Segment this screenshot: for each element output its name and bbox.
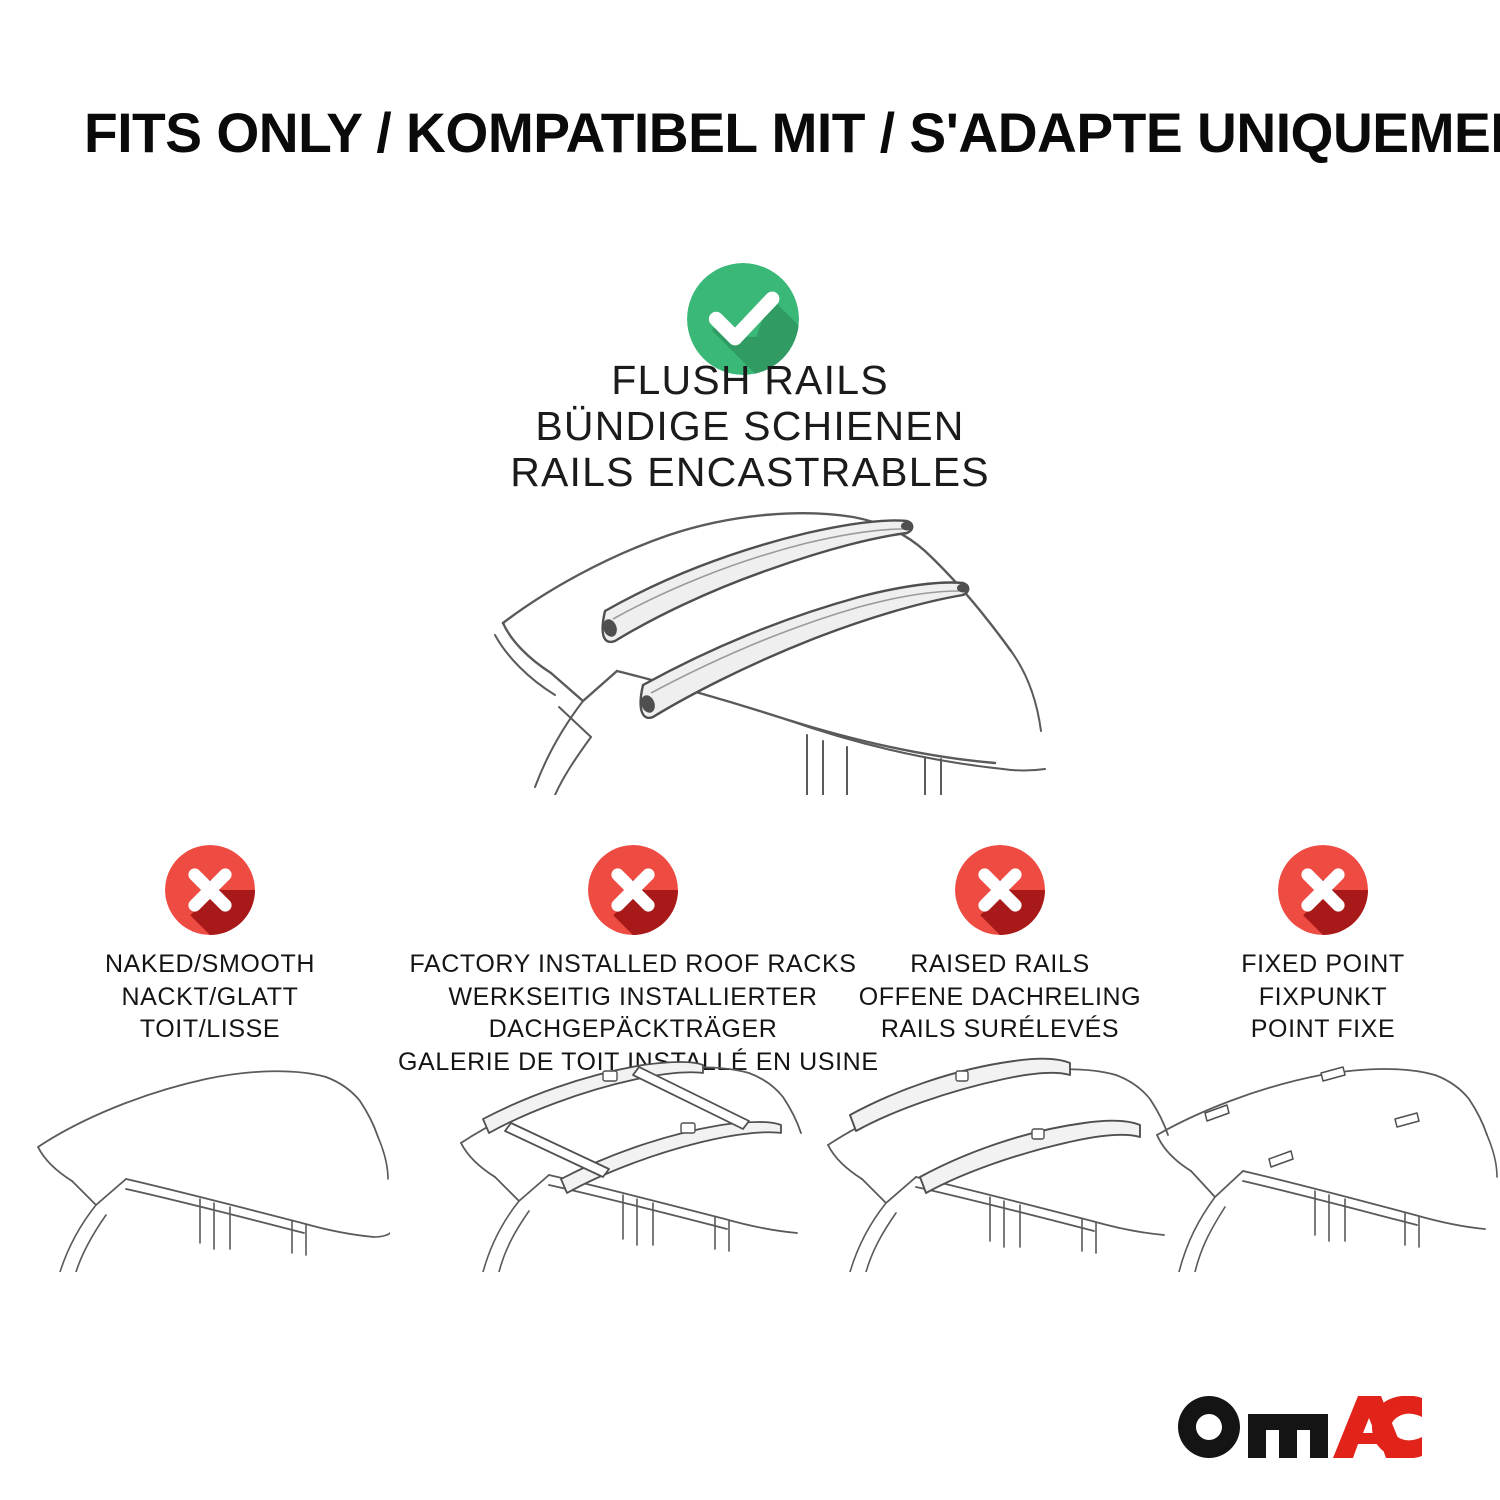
caption-line: TOIT/LISSE <box>30 1013 390 1046</box>
caption-line: POINT FIXE <box>1168 1013 1478 1046</box>
caption-line: NACKT/GLATT <box>30 981 390 1014</box>
x-circle-icon <box>165 845 255 935</box>
caption-line: WERKSEITIG INSTALLIERTER <box>398 981 868 1014</box>
x-circle-icon <box>588 845 678 935</box>
caption-line: FIXPUNKT <box>1168 981 1478 1014</box>
logo-letter-m <box>1248 1414 1328 1458</box>
car-roof-naked-smooth-illustration <box>30 1057 390 1272</box>
caption-line: RAISED RAILS <box>830 948 1170 981</box>
x-circle-icon <box>1278 845 1368 935</box>
caption-line: OFFENE DACHRELING <box>830 981 1170 1014</box>
x-mark-glyph <box>1278 845 1368 935</box>
x-mark-glyph <box>955 845 1045 935</box>
approved-heading-line: BÜNDIGE SCHIENEN <box>250 404 1250 450</box>
caption-line: NAKED/SMOOTH <box>30 948 390 981</box>
car-roof-raised-rails-illustration <box>820 1057 1180 1272</box>
logo-letter-o <box>1178 1396 1240 1458</box>
caption-line: DACHGEPÄCKTRÄGER <box>398 1013 868 1046</box>
car-roof-fixed-point-illustration <box>1143 1057 1500 1272</box>
caption-line: FIXED POINT <box>1168 948 1478 981</box>
column-caption: FIXED POINT FIXPUNKT POINT FIXE <box>1168 948 1478 1046</box>
approved-heading-line: RAILS ENCASTRABLES <box>250 450 1250 496</box>
omac-logo-mark <box>1178 1396 1422 1458</box>
x-mark-glyph <box>588 845 678 935</box>
car-roof-flush-rails-illustration <box>455 495 1055 795</box>
x-circle-icon <box>955 845 1045 935</box>
caption-line: FACTORY INSTALLED ROOF RACKS <box>398 948 868 981</box>
compatibility-infographic: FITS ONLY / KOMPATIBEL MIT / S'ADAPTE UN… <box>0 0 1500 1500</box>
approved-heading-line: FLUSH RAILS <box>250 358 1250 404</box>
car-roof-factory-rack-illustration <box>453 1057 813 1272</box>
caption-line: RAILS SURÉLEVÉS <box>830 1013 1170 1046</box>
approved-heading: FLUSH RAILS BÜNDIGE SCHIENEN RAILS ENCAS… <box>250 358 1250 496</box>
column-caption: RAISED RAILS OFFENE DACHRELING RAILS SUR… <box>830 948 1170 1046</box>
omac-logo: OM AC <box>1178 1396 1422 1458</box>
flush-rail-upper <box>601 521 913 642</box>
x-mark-glyph <box>165 845 255 935</box>
column-caption: NAKED/SMOOTH NACKT/GLATT TOIT/LISSE <box>30 948 390 1046</box>
page-title: FITS ONLY / KOMPATIBEL MIT / S'ADAPTE UN… <box>84 104 1404 163</box>
